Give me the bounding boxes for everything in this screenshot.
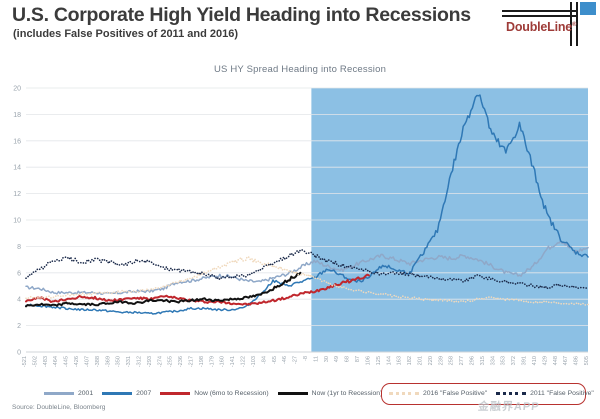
y-axis-tick-label: 12	[13, 191, 21, 198]
page-subtitle: (includes False Positives of 2011 and 20…	[13, 28, 238, 40]
x-axis-tick-label: 30	[324, 356, 330, 362]
legend-item[interactable]: Now (1yr to Recession)	[278, 390, 383, 397]
legend-item[interactable]: 2011 "False Positive"	[496, 390, 594, 397]
logo-line-bottom	[502, 15, 578, 17]
page-header: U.S. Corporate High Yield Heading into R…	[0, 0, 600, 52]
x-axis-tick-label: -331	[126, 356, 132, 367]
logo-wordmark: DoubleLine®	[506, 20, 576, 34]
legend-swatch	[160, 392, 190, 395]
x-axis-tick-label: -426	[74, 356, 80, 367]
legend-item[interactable]: Now (6mo to Recession)	[160, 390, 268, 397]
x-axis-tick-label: -274	[157, 356, 163, 367]
x-axis-tick-label: 334	[490, 356, 496, 365]
x-axis-tick-label: -255	[168, 356, 174, 367]
x-axis-tick-label: -445	[64, 356, 70, 367]
legend-label: Now (1yr to Recession)	[312, 390, 383, 397]
x-axis-tick-label: 429	[542, 356, 548, 365]
x-axis-tick-label: -502	[32, 356, 38, 367]
x-axis-tick-label: -8	[303, 356, 309, 361]
x-axis-tick-label: -350	[116, 356, 122, 367]
x-axis-tick-label: -217	[189, 356, 195, 367]
chart-container: US HY Spread Heading into Recession 0246…	[0, 52, 600, 382]
x-axis-tick-label: 353	[501, 356, 507, 365]
legend-items-solid: 20012007Now (6mo to Recession)Now (1yr t…	[44, 385, 391, 401]
x-axis-tick-label: 239	[438, 356, 444, 365]
x-axis-tick-label: -369	[105, 356, 111, 367]
x-axis-tick-label: -46	[282, 356, 288, 364]
x-axis-tick-label: -122	[241, 356, 247, 367]
x-axis-tick-label: 505	[584, 356, 590, 365]
legend-label: 2001	[78, 390, 93, 397]
x-axis-tick-label: -464	[53, 356, 59, 367]
x-axis-tick-label: 125	[376, 356, 382, 365]
x-axis-tick-label: 163	[397, 356, 403, 365]
x-axis-tick-label: -103	[251, 356, 257, 367]
x-axis-tick-label: 467	[563, 356, 569, 365]
logo-blue-square	[580, 2, 596, 15]
chart-plot-area: 02468101214161820-521-502-483-464-445-42…	[0, 52, 600, 382]
watermark: 金融界APP	[477, 398, 540, 414]
x-axis-tick-label: -236	[178, 356, 184, 367]
x-axis-tick-label: 410	[532, 356, 538, 365]
y-axis-tick-label: 6	[17, 270, 21, 277]
legend-swatch	[496, 392, 526, 395]
x-axis-tick-label: 106	[365, 356, 371, 365]
x-axis-tick-label: -388	[95, 356, 101, 367]
x-axis-tick-label: 296	[470, 356, 476, 365]
x-axis-tick-label: 486	[574, 356, 580, 365]
y-axis-tick-label: 20	[13, 86, 21, 93]
x-axis-tick-label: -293	[147, 356, 153, 367]
x-axis-tick-label: -521	[22, 356, 28, 367]
y-axis-tick-label: 10	[13, 218, 21, 225]
x-axis-tick-label: 277	[459, 356, 465, 365]
logo-wordmark-text: DoubleLine	[506, 20, 572, 34]
y-axis-tick-label: 8	[17, 244, 21, 251]
y-axis-tick-label: 14	[13, 165, 21, 172]
logo-line-top	[502, 10, 578, 12]
x-axis-tick-label: 220	[428, 356, 434, 365]
legend-swatch	[44, 392, 74, 395]
x-axis-tick-label: -160	[220, 356, 226, 367]
legend-label: Now (6mo to Recession)	[194, 390, 268, 397]
x-axis-tick-label: -65	[272, 356, 278, 364]
x-axis-tick-label: 144	[386, 356, 392, 365]
y-axis-tick-label: 16	[13, 138, 21, 145]
x-axis-tick-label: 201	[417, 356, 423, 365]
legend-label: 2007	[136, 390, 151, 397]
legend-item[interactable]: 2001	[44, 390, 93, 397]
source-note: Source: DoubleLine, Bloomberg	[12, 404, 105, 411]
legend-swatch	[278, 392, 308, 395]
legend-swatch	[102, 392, 132, 395]
x-axis-tick-label: 182	[407, 356, 413, 365]
x-axis-tick-label: -407	[84, 356, 90, 367]
legend-item[interactable]: 2016 "False Positive"	[389, 390, 487, 397]
doubleline-logo: DoubleLine®	[502, 2, 594, 46]
logo-vertical-right	[576, 2, 578, 46]
x-axis-tick-label: 87	[355, 356, 361, 362]
x-axis-tick-label: 372	[511, 356, 517, 365]
legend-label: 2011 "False Positive"	[530, 390, 594, 397]
legend-label: 2016 "False Positive"	[423, 390, 487, 397]
x-axis-tick-label: -312	[136, 356, 142, 367]
y-axis-tick-label: 18	[13, 112, 21, 119]
x-axis-tick-label: 258	[449, 356, 455, 365]
x-axis-tick-label: -483	[43, 356, 49, 367]
logo-registered-mark: ®	[572, 22, 576, 28]
x-axis-tick-label: 68	[345, 356, 351, 362]
y-axis-tick-label: 0	[17, 350, 21, 357]
x-axis-tick-label: 448	[553, 356, 559, 365]
x-axis-tick-label: -141	[230, 356, 236, 367]
x-axis-tick-label: 49	[334, 356, 340, 362]
y-axis-tick-label: 4	[17, 297, 21, 304]
page-title: U.S. Corporate High Yield Heading into R…	[12, 4, 471, 27]
x-axis-tick-label: -84	[261, 356, 267, 364]
y-axis-tick-label: 2	[17, 323, 21, 330]
x-axis-tick-label: 11	[313, 356, 319, 362]
x-axis-tick-label: 315	[480, 356, 486, 365]
legend-item[interactable]: 2007	[102, 390, 151, 397]
x-axis-tick-label: -198	[199, 356, 205, 367]
x-axis-tick-label: -179	[209, 356, 215, 367]
x-axis-tick-label: 391	[522, 356, 528, 365]
x-axis-tick-label: -27	[293, 356, 299, 364]
legend-swatch	[389, 392, 419, 395]
